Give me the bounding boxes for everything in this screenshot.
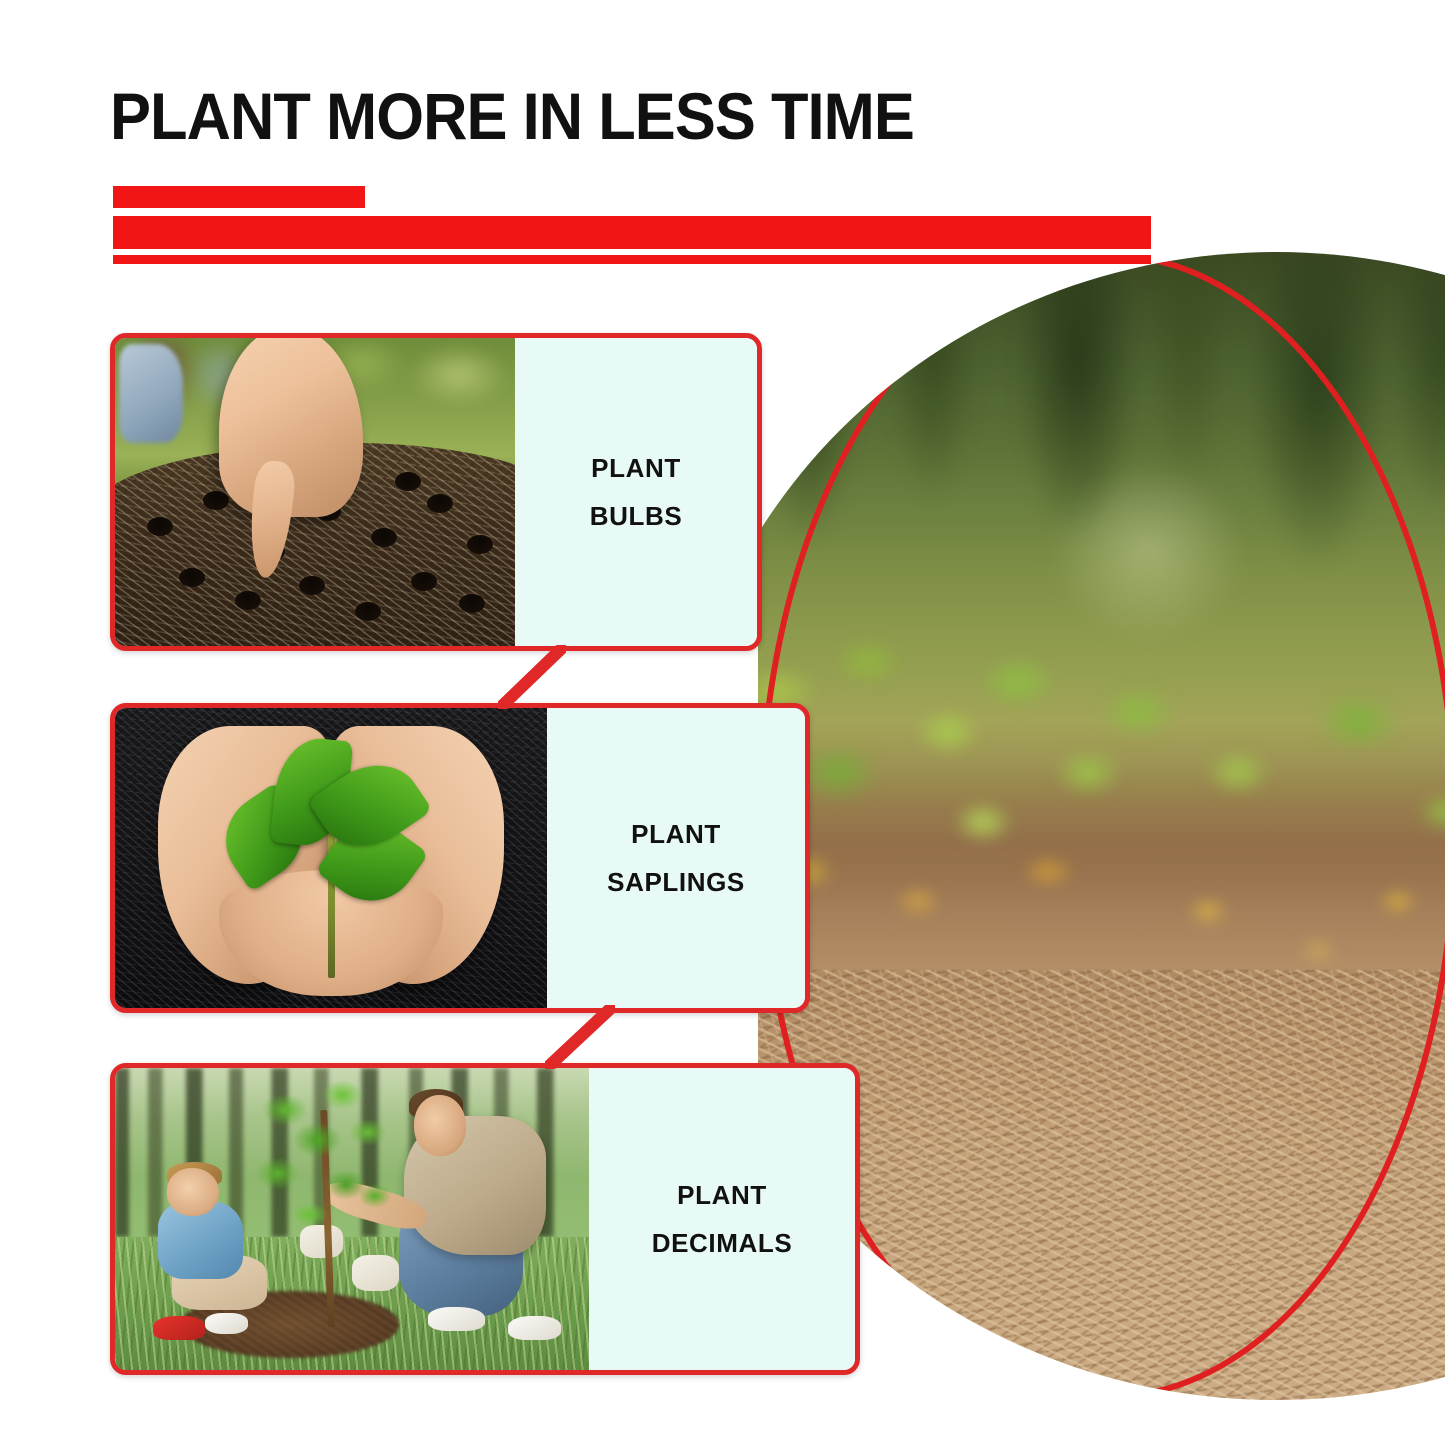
card-connector-1 bbox=[498, 645, 566, 709]
pine-mulch-ground bbox=[758, 970, 1445, 1400]
card-label-line2: BULBS bbox=[590, 492, 683, 540]
page-title: PLANT MORE IN LESS TIME bbox=[110, 78, 914, 154]
photo-hands-holding-sapling bbox=[115, 708, 547, 1008]
photo3-man-head bbox=[414, 1095, 466, 1155]
feature-card-plant-saplings[interactable]: PLANT SAPLINGS bbox=[110, 703, 810, 1013]
card-label-plant-bulbs: PLANT BULBS bbox=[515, 338, 757, 646]
photo3-boy-shoe bbox=[153, 1316, 205, 1340]
card-label-line1: PLANT bbox=[591, 444, 681, 492]
photo3-boy-sock bbox=[205, 1313, 248, 1334]
card-label-plant-decimals: PLANT DECIMALS bbox=[589, 1068, 855, 1370]
card-connector-2 bbox=[545, 1005, 615, 1069]
card-label-line1: PLANT bbox=[631, 810, 721, 858]
photo1-sleeve bbox=[119, 344, 183, 443]
feature-card-plant-decimals[interactable]: PLANT DECIMALS bbox=[110, 1063, 860, 1375]
blurred-trees bbox=[758, 252, 1445, 682]
photo3-man-shoe bbox=[508, 1316, 560, 1340]
photo3-sapling-canopy bbox=[238, 1080, 418, 1267]
card-label-line2: DECIMALS bbox=[652, 1219, 793, 1267]
card-label-line1: PLANT bbox=[677, 1171, 767, 1219]
feature-card-plant-bulbs[interactable]: PLANT BULBS bbox=[110, 333, 762, 651]
hero-product-photo: KOK bbox=[758, 252, 1445, 1400]
card-label-line2: SAPLINGS bbox=[607, 858, 745, 906]
photo3-man-shoe bbox=[428, 1307, 485, 1331]
accent-rule-long bbox=[113, 216, 1151, 249]
accent-rule-short bbox=[113, 186, 365, 208]
hero-photo-clip: KOK bbox=[758, 252, 1445, 1400]
photo-hand-planting-bulb bbox=[115, 338, 515, 646]
card-label-plant-saplings: PLANT SAPLINGS bbox=[547, 708, 805, 1008]
photo3-boy-head bbox=[167, 1168, 219, 1216]
photo-man-and-boy-planting-tree bbox=[115, 1068, 589, 1370]
infographic-canvas: PLANT MORE IN LESS TIME KOK bbox=[0, 0, 1445, 1445]
